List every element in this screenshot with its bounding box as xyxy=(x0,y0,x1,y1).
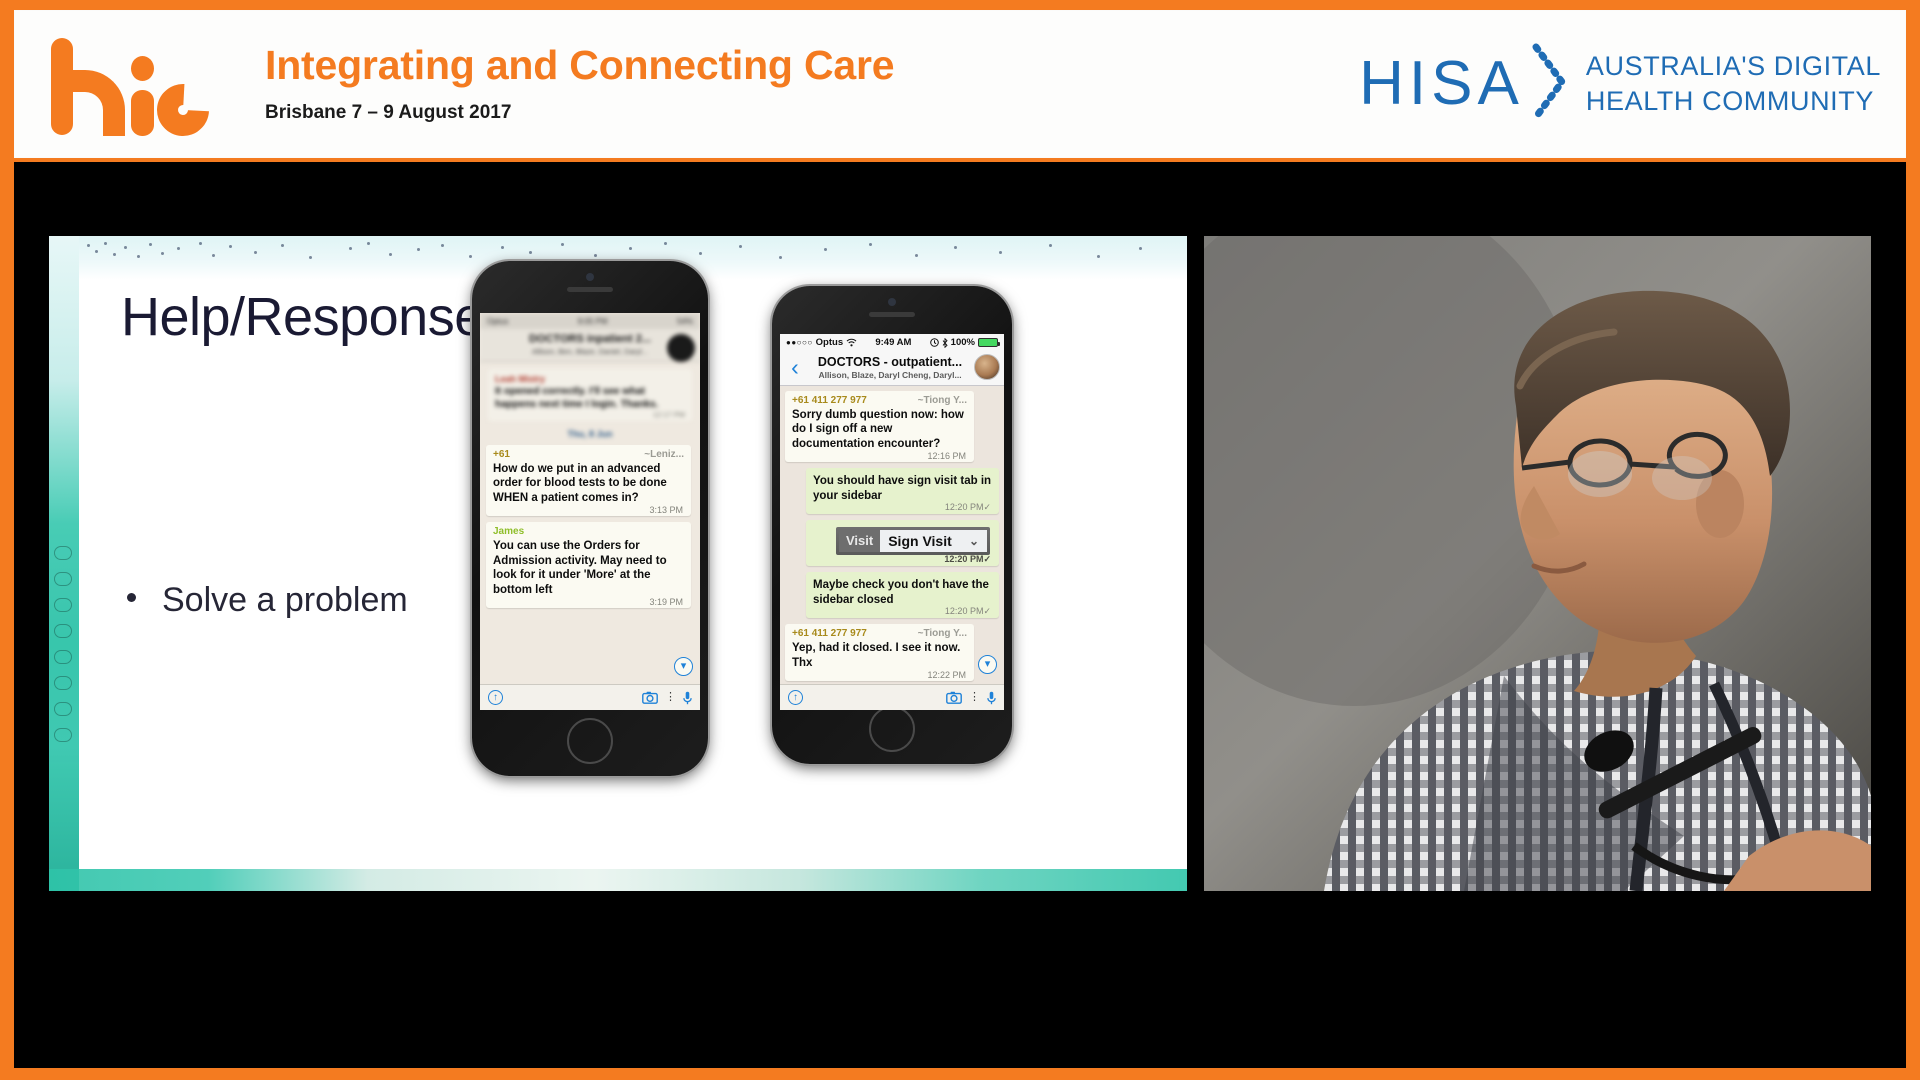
chat-message-outgoing: You should have sign visit tab in your s… xyxy=(806,468,999,514)
chat-message: +61 ~Leniz... How do we put in an advanc… xyxy=(486,445,691,516)
slide-bullet-item: Solve a problem xyxy=(127,581,408,620)
phone-mockup-right: ●●○○○ Optus 9:49 AM xyxy=(772,286,1012,764)
video-stage: Help/Response Solve a problem Optus 9:05… xyxy=(14,162,1906,1068)
presentation-slide: Help/Response Solve a problem Optus 9:05… xyxy=(49,236,1187,891)
chevron-down-icon: ⌄ xyxy=(969,534,979,548)
phone-left-screen: Optus 9:05 PM 54% DOCTORS inpatient 2...… xyxy=(480,313,700,710)
front-camera-icon xyxy=(586,273,594,281)
message-sender: James xyxy=(493,526,684,537)
message-time: 12:22 PM xyxy=(927,670,966,680)
slide-title: Help/Response xyxy=(121,286,484,348)
phone-left-blurred-chat: Optus 9:05 PM 54% DOCTORS inpatient 2...… xyxy=(480,313,700,439)
message-time: 12:20 PM✓ xyxy=(945,502,991,513)
chat-title: DOCTORS - outpatient... xyxy=(806,355,974,369)
chat-input-toolbar: ↑ ⋮ xyxy=(780,684,1004,710)
status-right-group: 100% xyxy=(930,337,998,348)
front-camera-icon xyxy=(888,298,896,306)
chevron-down-circle-icon[interactable]: ▾ xyxy=(978,655,997,674)
message-sender-alias: ~Tiong Y... xyxy=(918,395,967,406)
toolbar-right-icons: ⋮ xyxy=(946,691,996,705)
message-sender-alias: ~Tiong Y... xyxy=(918,628,967,639)
home-button[interactable] xyxy=(869,706,915,752)
speaker-video-feed xyxy=(1204,236,1871,891)
slide-left-decoration xyxy=(49,236,79,891)
hisa-tagline: AUSTRALIA'S DIGITAL HEALTH COMMUNITY xyxy=(1586,49,1881,118)
wifi-icon xyxy=(846,338,857,347)
chevron-down-circle-icon[interactable]: ▾ xyxy=(674,657,693,676)
conference-header-banner: Integrating and Connecting Care Brisbane… xyxy=(14,10,1906,158)
presentation-recording-frame: Integrating and Connecting Care Brisbane… xyxy=(0,0,1920,1080)
bullet-dot-icon xyxy=(127,593,136,602)
chat-participants: Allison, Blaze, Daryl Cheng, Daryl... xyxy=(806,370,974,380)
message-text: You should have sign visit tab in your s… xyxy=(813,474,992,503)
avatar xyxy=(667,334,695,362)
message-text: How do we put in an advanced order for b… xyxy=(493,462,684,505)
visit-tab-label: Visit xyxy=(839,530,880,552)
chat-participants: Allison, Ben, Blaze, Daniel, Daryl... xyxy=(486,347,694,356)
sign-visit-control: Sign Visit ⌄ xyxy=(880,530,987,552)
header-left-group: Integrating and Connecting Care Brisbane… xyxy=(15,32,894,136)
message-sender: +61 411 277 977 xyxy=(792,395,867,406)
hisa-brand-lockup: HISA AUSTRALIA'S DIGITAL HEALTH COMMUNIT… xyxy=(1359,43,1905,126)
avatar[interactable] xyxy=(974,354,1000,380)
status-carrier: Optus xyxy=(487,317,508,326)
message-sender: +61 411 277 977 xyxy=(792,628,867,639)
message-time-value: 12:20 PM xyxy=(945,502,984,512)
message-time-value: 12:20 PM xyxy=(944,554,983,564)
chat-title: DOCTORS inpatient 2... xyxy=(486,333,694,345)
earpiece-speaker xyxy=(869,312,915,317)
message-sender: +61 xyxy=(493,449,510,460)
message-sender-alias: ~Leniz... xyxy=(644,449,684,460)
status-time: 9:49 AM xyxy=(875,337,911,348)
message-read-tick-icon: ✓ xyxy=(983,606,991,616)
chat-message: +61 411 277 977 ~Tiong Y... Sorry dumb q… xyxy=(785,391,974,462)
earpiece-speaker xyxy=(567,287,613,292)
message-time-value: 12:20 PM xyxy=(945,606,984,616)
status-battery: 54% xyxy=(677,317,693,326)
message-text: Maybe check you don't have the sidebar c… xyxy=(813,578,992,607)
message-time: 3:13 PM xyxy=(649,505,683,515)
signal-dots-icon: ●●○○○ xyxy=(786,338,813,347)
chevron-right-icon xyxy=(1530,43,1570,126)
status-bar: ●●○○○ Optus 9:49 AM xyxy=(780,334,1004,351)
chat-message-blurred: Leah Mistry It opened correctly. I'll se… xyxy=(488,369,692,421)
page-title: Integrating and Connecting Care xyxy=(265,44,894,87)
camera-icon[interactable] xyxy=(642,691,658,704)
bluetooth-icon xyxy=(942,338,948,348)
microphone-icon[interactable] xyxy=(987,691,996,705)
hisa-tagline-line-2: HEALTH COMMUNITY xyxy=(1586,84,1881,119)
hisa-tagline-line-1: AUSTRALIA'S DIGITAL xyxy=(1586,49,1881,84)
message-text: It opened correctly. I'll see what happe… xyxy=(495,386,685,411)
status-time: 9:05 PM xyxy=(578,317,608,326)
message-sender-row: +61 411 277 977 ~Tiong Y... xyxy=(792,395,967,406)
event-subtitle: Brisbane 7 – 9 August 2017 xyxy=(265,102,894,124)
chat-navbar: ‹ DOCTORS - outpatient... Allison, Blaze… xyxy=(780,351,1004,386)
message-time: 12:16 PM xyxy=(927,451,966,461)
sign-visit-label: Sign Visit xyxy=(888,533,952,549)
status-bar: Optus 9:05 PM 54% xyxy=(480,313,700,329)
status-carrier: Optus xyxy=(816,337,843,348)
slide-bottom-decoration xyxy=(49,869,1187,891)
toolbar-right-icons: ⋮ xyxy=(642,691,692,705)
message-time: 12:17 PM xyxy=(653,410,685,419)
attached-screenshot[interactable]: Visit Sign Visit ⌄ xyxy=(836,527,990,555)
message-time: 3:19 PM xyxy=(649,597,683,607)
chat-message-outgoing: Maybe check you don't have the sidebar c… xyxy=(806,572,999,618)
chat-title-group[interactable]: DOCTORS - outpatient... Allison, Blaze, … xyxy=(806,355,974,380)
message-time: 12:20 PM✓ xyxy=(944,554,991,565)
message-text: Yep, had it closed. I see it now. Thx xyxy=(792,641,967,670)
microphone-icon[interactable] xyxy=(683,691,692,705)
status-battery-percent: 100% xyxy=(951,337,975,348)
alarm-icon xyxy=(930,338,939,347)
up-arrow-circle-icon[interactable]: ↑ xyxy=(788,690,803,705)
slide-bullet-label: Solve a problem xyxy=(162,581,408,620)
chat-message: James You can use the Orders for Admissi… xyxy=(486,522,691,608)
up-arrow-circle-icon[interactable]: ↑ xyxy=(488,690,503,705)
message-text: You can use the Orders for Admission act… xyxy=(493,539,684,597)
hisa-wordmark: HISA xyxy=(1359,53,1524,115)
chat-message: +61 411 277 977 ~Tiong Y... Yep, had it … xyxy=(785,624,974,681)
camera-icon[interactable] xyxy=(946,691,962,704)
home-button[interactable] xyxy=(567,718,613,764)
message-text: Sorry dumb question now: how do I sign o… xyxy=(792,408,967,451)
battery-full-icon xyxy=(978,338,998,347)
hic-logo xyxy=(45,32,213,136)
message-sender-row: +61 411 277 977 ~Tiong Y... xyxy=(792,628,967,639)
message-sender-row: +61 ~Leniz... xyxy=(493,449,684,460)
phone-right-screen: ●●○○○ Optus 9:49 AM xyxy=(780,334,1004,710)
status-left-group: ●●○○○ Optus xyxy=(786,337,857,348)
overflow-menu-icon[interactable]: ⋮ xyxy=(665,692,676,703)
message-read-tick-icon: ✓ xyxy=(983,554,991,564)
header-title-group: Integrating and Connecting Care Brisbane… xyxy=(265,44,894,123)
chat-navbar: DOCTORS inpatient 2... Allison, Ben, Bla… xyxy=(480,329,700,362)
chat-input-toolbar: ↑ ⋮ xyxy=(480,684,700,710)
message-read-tick-icon: ✓ xyxy=(983,502,991,512)
back-chevron-icon[interactable]: ‹ xyxy=(784,356,806,379)
chat-message-image-outgoing[interactable]: Visit Sign Visit ⌄ 12:20 PM✓ xyxy=(806,520,999,566)
message-sender: Leah Mistry xyxy=(495,374,685,384)
message-time: 12:20 PM✓ xyxy=(945,606,991,617)
chat-day-divider: Thu, 8 Jun xyxy=(480,429,700,439)
phone-mockup-left: Optus 9:05 PM 54% DOCTORS inpatient 2...… xyxy=(472,261,708,776)
overflow-menu-icon[interactable]: ⋮ xyxy=(969,692,980,703)
